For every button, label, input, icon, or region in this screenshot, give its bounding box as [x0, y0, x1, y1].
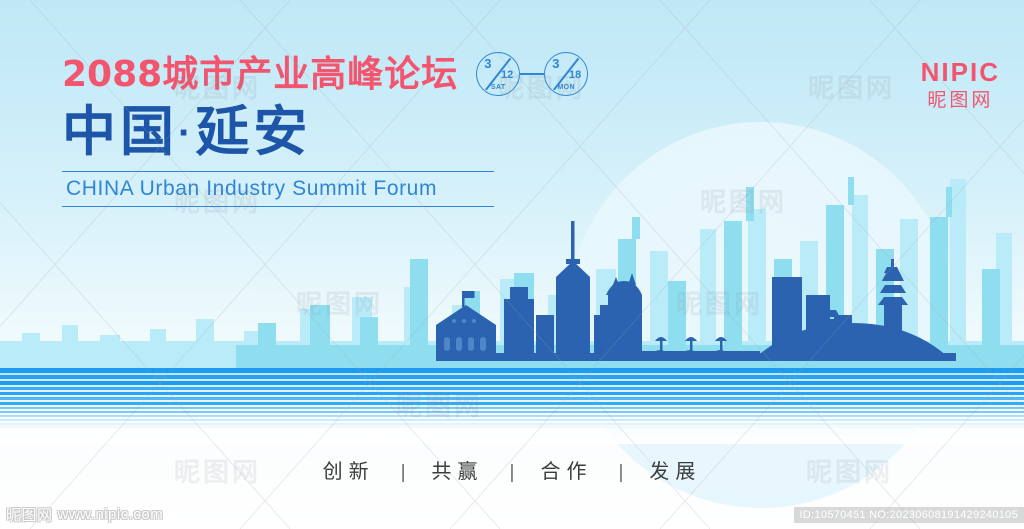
slogan-separator: |: [401, 463, 406, 482]
end-month: 3: [552, 57, 559, 70]
city-country: 中国: [62, 102, 178, 162]
poster-canvas: 2088城市产业高峰论坛 3 12 SAT 3 18 MON 中国·延安: [0, 0, 1024, 529]
end-day: 18: [569, 70, 581, 81]
headline-top-row: 2088城市产业高峰论坛 3 12 SAT 3 18 MON: [62, 52, 582, 96]
watermark-text: 昵图网: [808, 68, 895, 105]
date-connector: [520, 73, 544, 75]
slogan-separator: |: [618, 463, 623, 482]
slogan-word-2: 共赢: [432, 462, 484, 482]
headline-block: 2088城市产业高峰论坛 3 12 SAT 3 18 MON 中国·延安: [62, 52, 582, 207]
start-month: 3: [484, 57, 491, 70]
water-fade: [0, 404, 1024, 444]
footer-site: 昵图网 www.nipic.com: [6, 504, 163, 525]
end-weekday: MON: [545, 84, 587, 91]
event-title-cn: 城市产业高峰论坛: [162, 53, 458, 94]
city-title: 中国·延安: [62, 104, 582, 161]
subtitle-en: CHINA Urban Industry Summit Forum: [62, 172, 494, 205]
footer-site-url: www.nipic.com: [58, 506, 164, 523]
start-weekday: SAT: [477, 84, 519, 91]
subtitle-rule-bottom: [62, 206, 494, 207]
start-day: 12: [501, 70, 513, 81]
slogan-row: 创新 | 共赢 | 合作 | 发展: [0, 462, 1024, 482]
date-badge-end: 3 18 MON: [544, 52, 588, 96]
date-badge-start: 3 12 SAT: [476, 52, 520, 96]
slogan-word-4: 发展: [649, 462, 701, 482]
footer-site-cn: 昵图网: [6, 504, 53, 525]
slogan-word-3: 合作: [540, 462, 592, 482]
slogan-separator: |: [510, 463, 515, 482]
city-name: 延安: [195, 102, 311, 162]
brand-logo: NIPIC 昵图网: [921, 58, 1000, 113]
brand-name-en: NIPIC: [921, 58, 1000, 87]
slogan-word-1: 创新: [323, 462, 375, 482]
event-year: 2088: [62, 54, 162, 95]
date-range: 3 12 SAT 3 18 MON: [476, 52, 588, 96]
brand-name-cn: 昵图网: [921, 89, 1000, 114]
footer-id-label: ID:10570451 NO:20230608191429240105: [794, 507, 1024, 523]
subtitle-block: CHINA Urban Industry Summit Forum: [62, 171, 494, 207]
event-title: 2088城市产业高峰论坛: [62, 56, 458, 93]
city-separator-dot: ·: [178, 111, 195, 155]
